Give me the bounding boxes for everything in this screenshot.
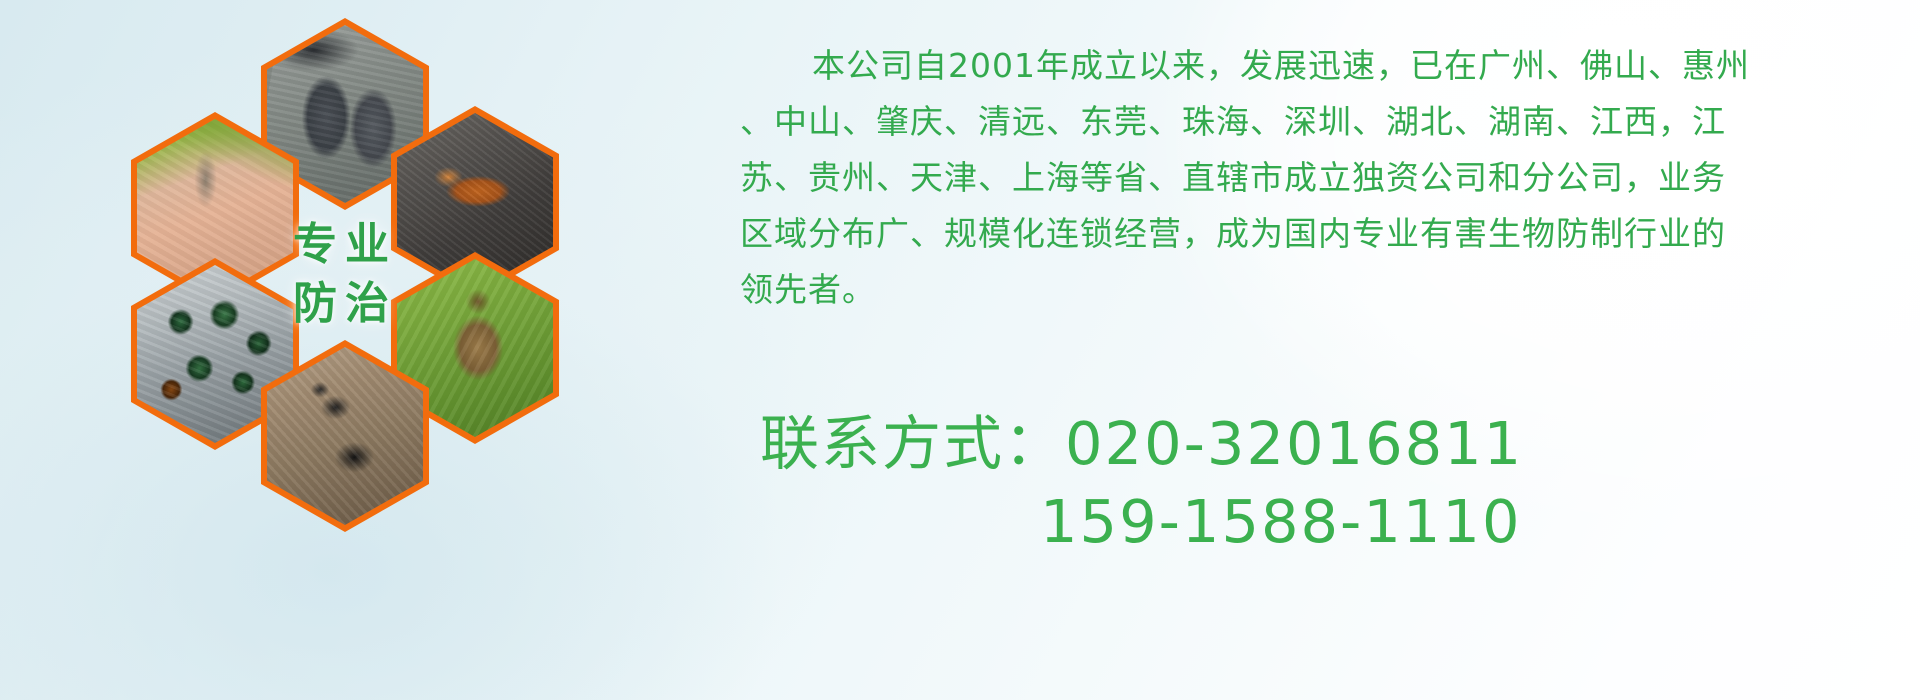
intro-line-1: 本公司自2001年成立以来，发展迅速，已在广州、佛山、惠州	[740, 38, 1860, 94]
contact-mobile-line: 159-1588-1110	[760, 483, 1860, 561]
slogan-line-1: 专业	[293, 215, 397, 274]
intro-line-4: 区域分布广、规模化连锁经营，成为国内专业有害生物防制行业的	[740, 206, 1860, 262]
company-intro-banner: 专业 防治 本公司自2001年成立以来，发展迅速，已在广州、佛山、惠州 、中山、…	[0, 0, 1920, 700]
contact-block: 联系方式：020-32016811 159-1588-1110	[760, 405, 1860, 561]
intro-line-5: 领先者。	[740, 262, 1860, 318]
contact-label: 联系方式：	[760, 409, 1065, 478]
contact-phone-landline[interactable]: 020-32016811	[1065, 409, 1523, 478]
honeycomb-photo-cluster: 专业 防治	[95, 10, 595, 570]
slogan-line-2: 防治	[293, 274, 397, 333]
intro-line-2: 、中山、肇庆、清远、东莞、珠海、深圳、湖北、湖南、江西，江	[740, 94, 1860, 150]
contact-landline-line: 联系方式：020-32016811	[760, 405, 1860, 483]
contact-phone-mobile[interactable]: 159-1588-1110	[1040, 487, 1522, 556]
honeycomb-center-slogan: 专业 防治	[261, 178, 429, 370]
intro-line-3: 苏、贵州、天津、上海等省、直辖市成立独资公司和分公司，业务	[740, 150, 1860, 206]
ant-photo	[267, 347, 423, 525]
company-intro-text: 本公司自2001年成立以来，发展迅速，已在广州、佛山、惠州 、中山、肇庆、清远、…	[740, 38, 1860, 318]
